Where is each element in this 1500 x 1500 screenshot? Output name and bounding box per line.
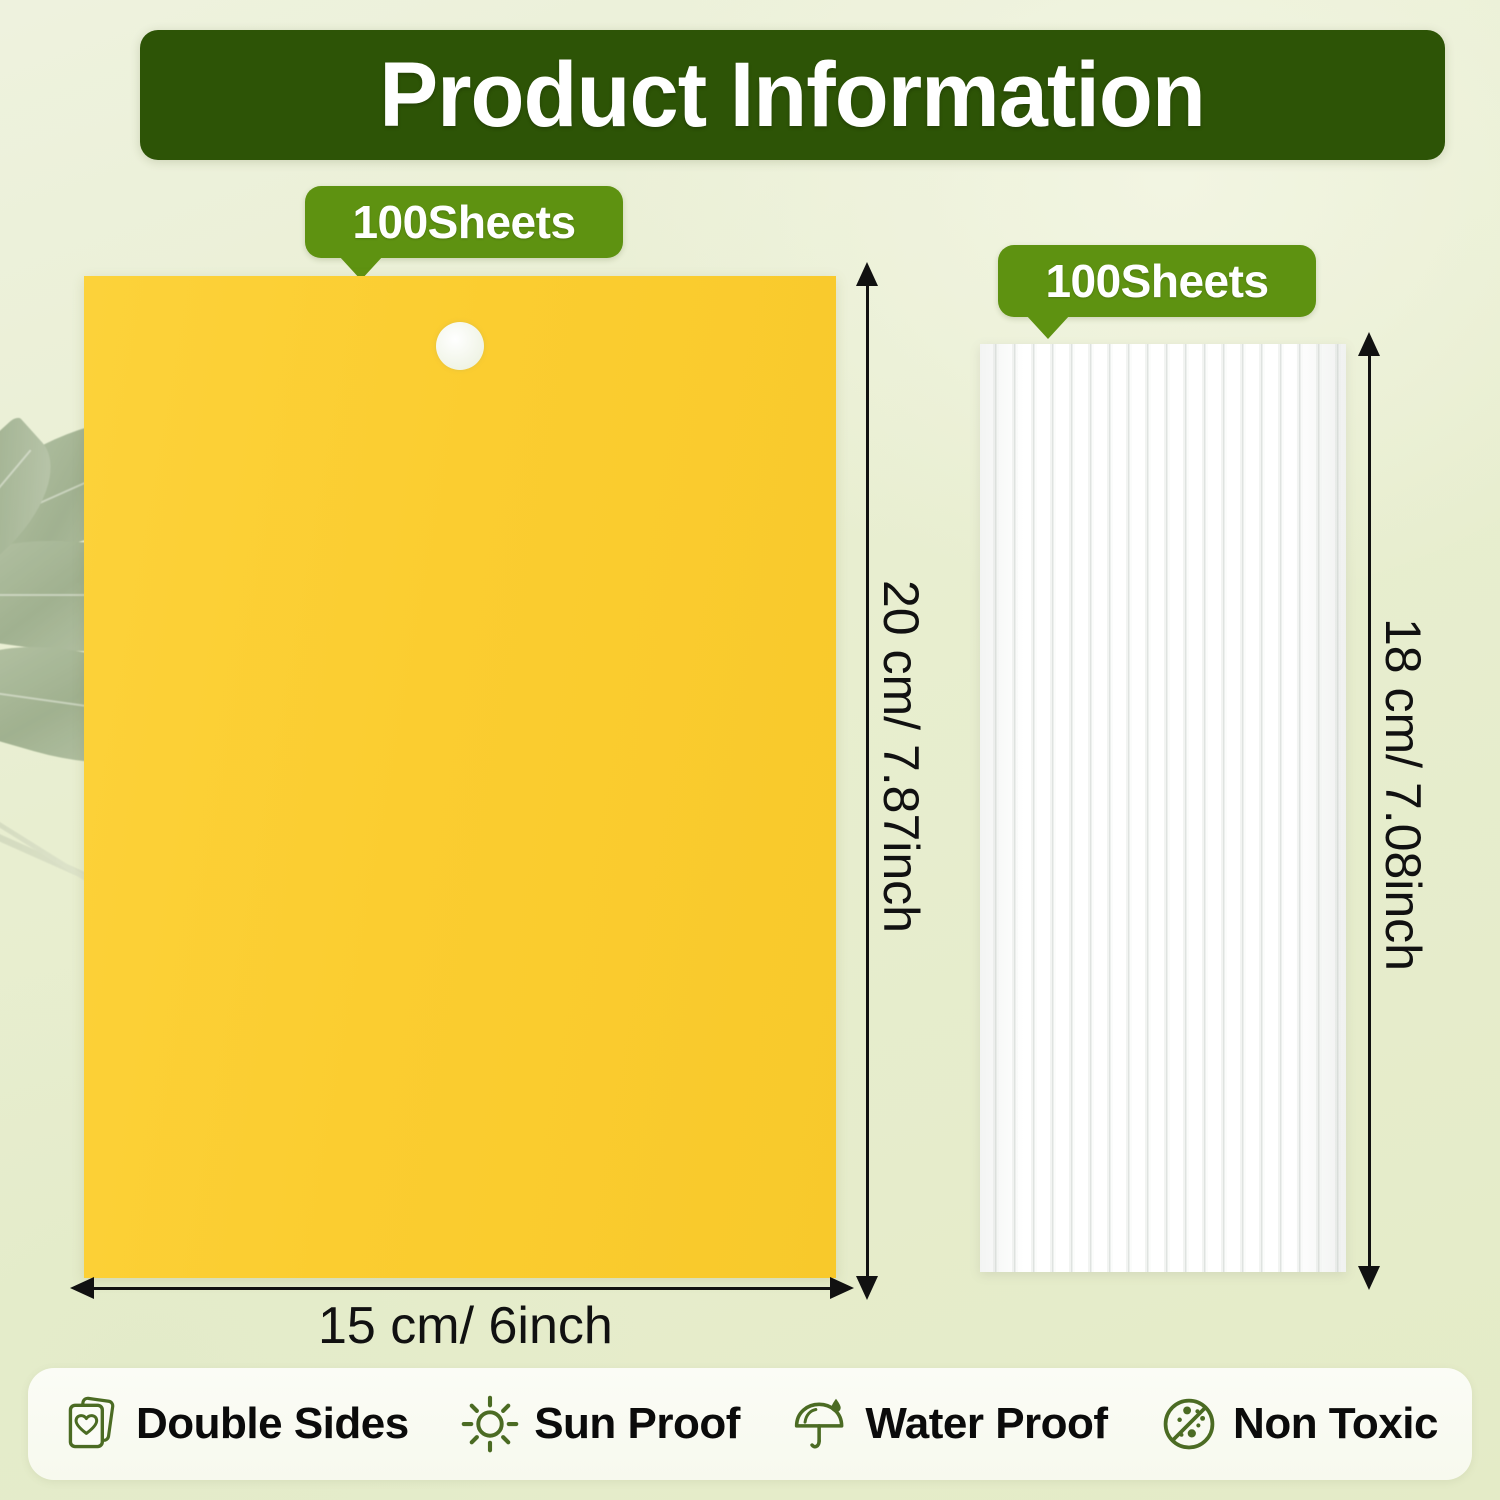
width-dimension-line-yellow: [90, 1287, 834, 1290]
umbrella-droplet-icon: [791, 1394, 851, 1454]
arrow-head-down: [1358, 1266, 1380, 1290]
feature-bar: Double Sides Sun Proof: [28, 1368, 1472, 1480]
feature-label: Non Toxic: [1233, 1399, 1438, 1449]
feature-label: Water Proof: [865, 1399, 1107, 1449]
arrow-head-up: [1358, 332, 1380, 356]
page-title: Product Information: [380, 49, 1206, 141]
sheet-count-badge-yellow: 100Sheets: [305, 186, 623, 258]
double-cards-heart-icon: [62, 1394, 122, 1454]
white-twist-tie-stack: [980, 344, 1346, 1272]
feature-water-proof: Water Proof: [791, 1394, 1107, 1454]
arrow-head-down: [856, 1276, 878, 1300]
arrow-head-right: [830, 1277, 854, 1299]
arrow-head-left: [70, 1277, 94, 1299]
feature-non-toxic: Non Toxic: [1159, 1394, 1438, 1454]
sheet-count-label: 100Sheets: [352, 195, 575, 249]
sun-icon: [460, 1394, 520, 1454]
height-dimension-label-yellow: 20 cm/ 7.87inch: [872, 580, 930, 933]
yellow-sticky-sheet: [84, 276, 836, 1278]
product-information-infographic: Product Information 100Sheets 100Sheets …: [0, 0, 1500, 1500]
badge-pointer-tail: [1026, 315, 1070, 339]
feature-label: Sun Proof: [534, 1399, 740, 1449]
width-dimension-label-yellow: 15 cm/ 6inch: [318, 1296, 613, 1356]
height-dimension-line-yellow: [866, 282, 869, 1280]
feature-sun-proof: Sun Proof: [460, 1394, 740, 1454]
arrow-head-up: [856, 262, 878, 286]
no-toxin-circle-icon: [1159, 1394, 1219, 1454]
feature-label: Double Sides: [136, 1399, 409, 1449]
hanging-hole: [436, 322, 484, 370]
feature-double-sides: Double Sides: [62, 1394, 409, 1454]
sheet-count-badge-ties: 100Sheets: [998, 245, 1316, 317]
height-dimension-line-ties: [1368, 352, 1371, 1270]
height-dimension-label-ties: 18 cm/ 7.08inch: [1374, 618, 1432, 971]
page-title-banner: Product Information: [140, 30, 1445, 160]
sheet-count-label: 100Sheets: [1045, 254, 1268, 308]
